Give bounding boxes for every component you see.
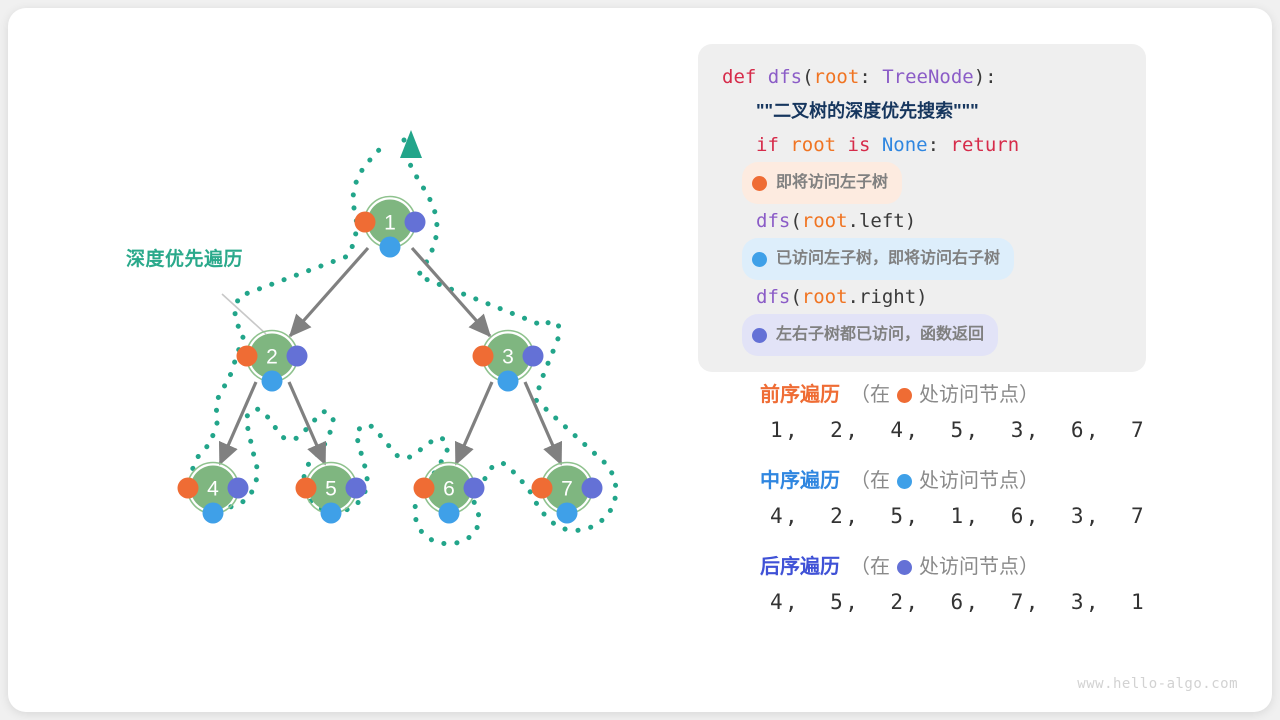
annotation-pill: 已访问左子树，即将访问右子树 xyxy=(742,238,1014,280)
annotation-pill: 即将访问左子树 xyxy=(742,162,902,204)
node-value: 3 xyxy=(502,346,514,369)
tree-node-5[interactable]: 5 xyxy=(296,463,367,524)
order-title: 后序遍历 xyxy=(760,552,840,582)
annotation-text: 即将访问左子树 xyxy=(776,166,888,200)
code-token: root xyxy=(814,66,860,88)
figure-card: 1234567 深度优先遍历 def dfs(root: TreeNode):"… xyxy=(8,8,1272,712)
tree-node-6[interactable]: 6 xyxy=(414,463,485,524)
order-title: 中序遍历 xyxy=(760,466,840,496)
order-note-open: （在 xyxy=(850,552,890,582)
code-token: : xyxy=(859,66,882,88)
tree-node-1[interactable]: 1 xyxy=(355,197,426,258)
order-sequence: 1, 2, 4, 5, 3, 6, 7 xyxy=(770,418,1220,442)
code-docstring-line: ""二叉树的深度优先搜索""" xyxy=(698,94,1146,128)
inorder-marker-dot xyxy=(380,237,401,258)
order-marker-dot-icon xyxy=(897,388,912,403)
order-note-close: 处访问节点） xyxy=(919,466,1039,496)
order-marker-dot-icon xyxy=(897,560,912,575)
edge-1-2 xyxy=(290,248,368,336)
code-token: .left) xyxy=(848,210,917,232)
annotation-dot-icon xyxy=(752,328,767,343)
dfs-traversal-label: 深度优先遍历 xyxy=(126,244,243,271)
code-annotation-line: 即将访问左子树 xyxy=(698,162,1146,204)
docstring-text: ""二叉树的深度优先搜索""" xyxy=(756,101,979,121)
order-title: 前序遍历 xyxy=(760,380,840,410)
inorder-marker-dot xyxy=(439,503,460,524)
code-token: ( xyxy=(802,66,813,88)
node-value: 1 xyxy=(384,212,396,235)
annotation-dot-icon xyxy=(752,176,767,191)
order-sequence: 4, 2, 5, 1, 6, 3, 7 xyxy=(770,504,1220,528)
order-marker-dot-icon xyxy=(897,474,912,489)
code-token: root xyxy=(802,286,848,308)
code-token: def xyxy=(722,66,768,88)
node-value: 4 xyxy=(207,478,219,501)
annotation-text: 已访问左子树，即将访问右子树 xyxy=(776,242,1000,276)
annotation-text: 左右子树都已访问，函数返回 xyxy=(776,318,984,352)
postorder-marker-dot xyxy=(287,346,308,367)
code-token: .right) xyxy=(848,286,928,308)
inorder-marker-dot xyxy=(557,503,578,524)
node-value: 7 xyxy=(561,478,573,501)
preorder-marker-dot xyxy=(414,478,435,499)
code-token: is xyxy=(848,134,882,156)
code-annotation-line: 左右子树都已访问，函数返回 xyxy=(698,314,1146,356)
code-source-line: dfs(root.left) xyxy=(698,204,1146,238)
code-token: TreeNode xyxy=(882,66,974,88)
tree-node-3[interactable]: 3 xyxy=(473,331,544,392)
preorder-marker-dot xyxy=(237,346,258,367)
preorder-marker-dot xyxy=(355,212,376,233)
code-source-line: def dfs(root: TreeNode): xyxy=(698,60,1146,94)
inorder-marker-dot xyxy=(498,371,519,392)
node-value: 6 xyxy=(443,478,455,501)
code-block: def dfs(root: TreeNode):""二叉树的深度优先搜索"""i… xyxy=(698,44,1146,372)
preorder-marker-dot xyxy=(296,478,317,499)
preorder-marker-dot xyxy=(532,478,553,499)
postorder-marker-dot xyxy=(523,346,544,367)
edge-3-6 xyxy=(456,382,492,464)
screenshot-root: 1234567 深度优先遍历 def dfs(root: TreeNode):"… xyxy=(0,0,1280,720)
code-token: if xyxy=(756,134,790,156)
code-token: None xyxy=(882,134,928,156)
order-note-open: （在 xyxy=(850,466,890,496)
code-token: root xyxy=(802,210,848,232)
binary-tree-diagram: 1234567 xyxy=(8,8,698,712)
order-note-close: 处访问节点） xyxy=(919,552,1039,582)
edge-2-4 xyxy=(220,382,256,464)
tree-node-4[interactable]: 4 xyxy=(178,463,249,524)
code-token: ( xyxy=(790,210,801,232)
annotation-pill: 左右子树都已访问，函数返回 xyxy=(742,314,998,356)
code-token: ( xyxy=(790,286,801,308)
order-sequence: 4, 5, 2, 6, 7, 3, 1 xyxy=(770,590,1220,614)
traversal-orders: 前序遍历（在处访问节点）1, 2, 4, 5, 3, 6, 7中序遍历（在处访问… xyxy=(760,380,1220,638)
edge-3-7 xyxy=(525,382,561,464)
dfs-path-arrow-icon xyxy=(400,130,422,158)
node-value: 5 xyxy=(325,478,337,501)
code-source-line: if root is None: return xyxy=(698,128,1146,162)
code-token: dfs xyxy=(756,286,790,308)
label-leader-line xyxy=(222,294,266,334)
order-heading: 前序遍历（在处访问节点） xyxy=(760,380,1220,410)
code-annotation-line: 已访问左子树，即将访问右子树 xyxy=(698,238,1146,280)
order-note-open: （在 xyxy=(850,380,890,410)
preorder-marker-dot xyxy=(178,478,199,499)
order-heading: 后序遍历（在处访问节点） xyxy=(760,552,1220,582)
order-heading: 中序遍历（在处访问节点） xyxy=(760,466,1220,496)
order-note-close: 处访问节点） xyxy=(919,380,1039,410)
postorder-marker-dot xyxy=(464,478,485,499)
inorder-marker-dot xyxy=(262,371,283,392)
code-token: dfs xyxy=(768,66,802,88)
postorder-marker-dot xyxy=(346,478,367,499)
code-token: root xyxy=(790,134,847,156)
code-token: return xyxy=(951,134,1020,156)
code-token: : xyxy=(928,134,951,156)
preorder-marker-dot xyxy=(473,346,494,367)
watermark: www.hello-algo.com xyxy=(1077,676,1238,692)
postorder-marker-dot xyxy=(228,478,249,499)
edge-2-5 xyxy=(289,382,325,464)
tree-node-2[interactable]: 2 xyxy=(237,331,308,392)
code-token: ): xyxy=(974,66,997,88)
node-value: 2 xyxy=(266,346,278,369)
postorder-marker-dot xyxy=(582,478,603,499)
inorder-marker-dot xyxy=(203,503,224,524)
annotation-dot-icon xyxy=(752,252,767,267)
code-source-line: dfs(root.right) xyxy=(698,280,1146,314)
code-token: dfs xyxy=(756,210,790,232)
postorder-marker-dot xyxy=(405,212,426,233)
inorder-marker-dot xyxy=(321,503,342,524)
edge-1-3 xyxy=(412,248,490,336)
